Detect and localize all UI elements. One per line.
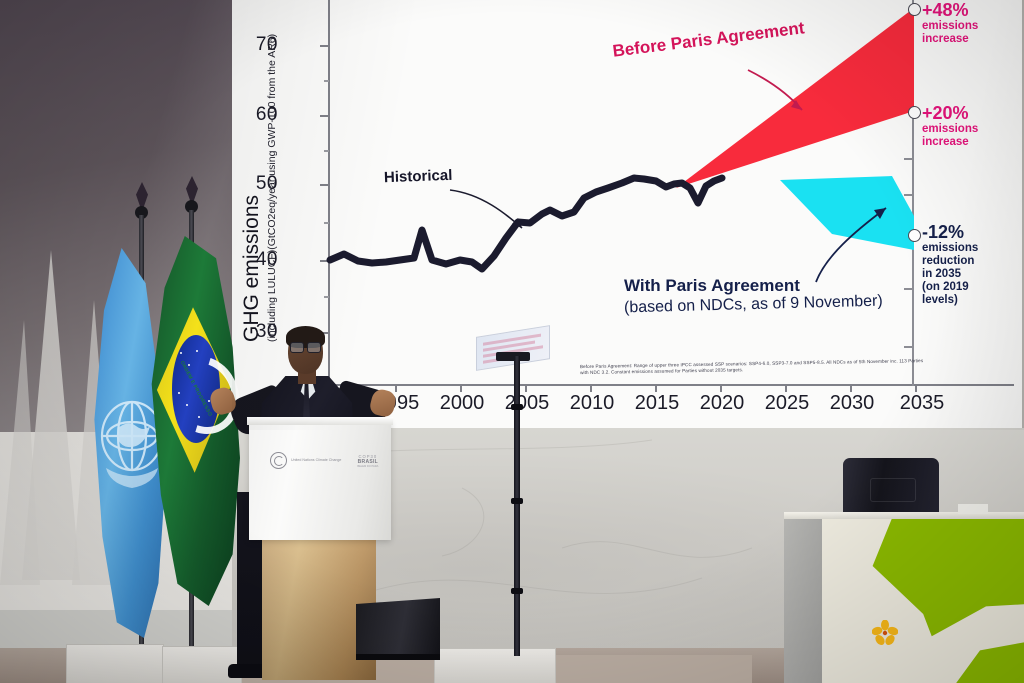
historical-arrow-icon [448, 184, 588, 244]
podium [249, 420, 391, 540]
cop30-logo-top: COP30 [357, 454, 378, 459]
mic-stand-clamp [511, 498, 523, 504]
unfccc-logo-text: United Nations Climate Change [291, 458, 341, 463]
cop30-logo-main: BRASIL [357, 459, 378, 465]
unfccc-logo: United Nations Climate Change [270, 452, 341, 469]
endpoint-marker-20 [908, 106, 921, 119]
mic-stand-clamp [511, 588, 523, 594]
stage-monitor-speaker [356, 598, 440, 658]
cop30-logo: COP30 BRASIL BELEM DO PARA [357, 454, 378, 468]
ipe-flower-icon [872, 620, 898, 646]
desk-front-panel [822, 516, 1024, 683]
endpoint-marker-48 [908, 3, 921, 16]
desk-nameplate [958, 504, 988, 514]
conference-photo: 70 60 50 40 30 GHG emissions (including … [0, 0, 1024, 683]
before-paris-arrow-icon [744, 66, 864, 136]
desk-top-surface [784, 512, 1024, 519]
presentation-screen: 70 60 50 40 30 GHG emissions (including … [232, 0, 1024, 430]
mic-stand-base [434, 648, 556, 683]
chair-seam [870, 478, 916, 502]
unfccc-mark-icon [270, 452, 287, 469]
cop30-logo-sub: BELEM DO PARA [357, 465, 378, 468]
endpoint-marker-12 [908, 229, 921, 242]
with-paris-arrow-icon [802, 186, 922, 286]
stage-monitor-base [356, 654, 440, 660]
flag-base [66, 644, 164, 683]
podium-logos: United Nations Climate Change COP30 BRAS… [270, 452, 378, 469]
desk-side-panel [784, 517, 824, 683]
